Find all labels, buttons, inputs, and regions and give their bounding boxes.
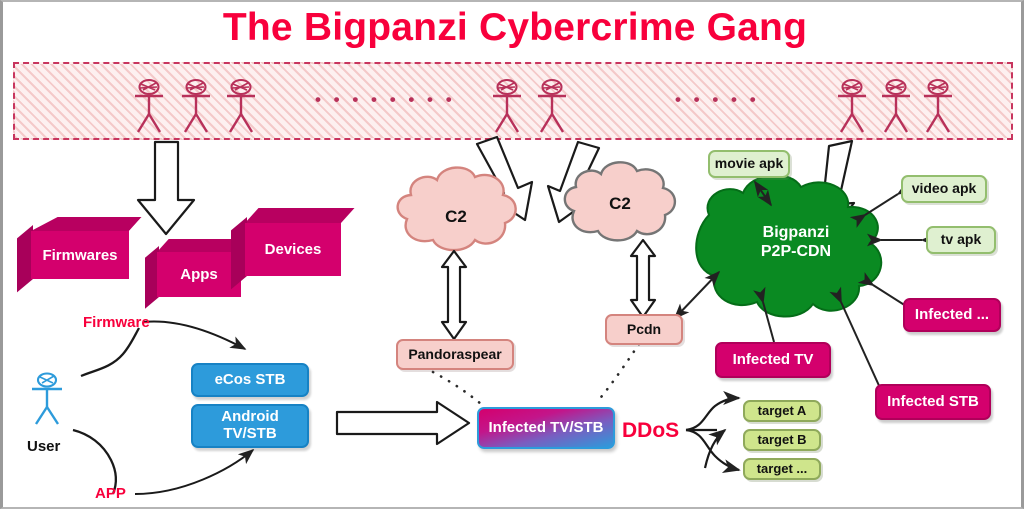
box-front-face: Apps: [157, 252, 241, 297]
ecos-stb-box[interactable]: eCos STB: [191, 363, 309, 397]
ddos-target-a-box[interactable]: target A: [743, 400, 821, 422]
video-apk-label: video apk: [912, 181, 977, 197]
dotted-pandoraspear-to-infected: [433, 372, 481, 404]
gang-actor-figure: [182, 80, 210, 132]
asset-label: Apps: [180, 266, 218, 283]
android-tv-stb-label: Android TV/STB: [221, 409, 279, 443]
pcdn-box[interactable]: Pcdn: [605, 314, 683, 345]
infected-generic-label: Infected ...: [915, 307, 989, 324]
app-label: APP: [95, 485, 126, 502]
ddos-target-label: target B: [757, 433, 806, 448]
curve-user-firmware: [81, 328, 139, 376]
arrow-app-to-android: [135, 450, 253, 494]
gang-actor-figure: [838, 80, 866, 132]
ddos-target-more-box[interactable]: target ...: [743, 458, 821, 480]
pcdn-label: Pcdn: [627, 322, 661, 338]
gang-actor-figure: [882, 80, 910, 132]
tv-apk-label: tv apk: [941, 232, 981, 248]
infected-tv-stb-label: Infected TV/STB: [488, 420, 603, 437]
dotted-pcdn-to-infected: [597, 344, 639, 402]
infected-stb-label: Infected STB: [887, 394, 979, 411]
infected-stb-box[interactable]: Infected STB: [875, 384, 991, 420]
movie-apk-label: movie apk: [715, 156, 783, 172]
ddos-label: DDoS: [622, 419, 679, 443]
box-top-face: [245, 208, 355, 223]
gang-actor-figure: [227, 80, 255, 132]
c2-left-cloud: [398, 168, 516, 251]
arrow-c2-left-pandoraspear: [442, 251, 466, 339]
asset-box-firmwares[interactable]: Firmwares: [17, 217, 129, 279]
infected-tv-label: Infected TV: [733, 352, 814, 369]
asset-box-apps[interactable]: Apps: [145, 239, 241, 297]
box-top-face: [31, 217, 142, 231]
arrow-cdn-pcdn: [675, 272, 719, 318]
firmware-label: Firmware: [83, 314, 150, 331]
user-label: User: [27, 438, 60, 455]
ddos-brace-lower: [686, 430, 739, 470]
bigpanzi-p2p-cdn-cloud: [696, 175, 881, 316]
ddos-brace-upper: [686, 398, 739, 430]
pandoraspear-box[interactable]: Pandoraspear: [396, 339, 514, 370]
gang-actor-figure: [538, 80, 566, 132]
asset-box-devices[interactable]: Devices: [231, 208, 341, 276]
arrow-stb-to-infected: [337, 402, 469, 444]
infected-tv-box[interactable]: Infected TV: [715, 342, 831, 378]
arrow-cdn-infected-stb: [841, 302, 881, 390]
infected-tv-stb-box[interactable]: Infected TV/STB: [477, 407, 615, 449]
ddos-target-label: target A: [758, 404, 807, 419]
asset-label: Devices: [265, 241, 322, 258]
diagram-canvas: The Bigpanzi Cybercrime Gang • • • • • •…: [0, 0, 1024, 509]
gang-actor-figure: [135, 80, 163, 132]
box-front-face: Devices: [245, 223, 341, 276]
movie-apk-box[interactable]: movie apk: [708, 150, 790, 178]
arrow-c2-right-pcdn: [631, 240, 655, 317]
arrow-firmware-to-ecos: [143, 321, 245, 349]
android-tv-stb-box[interactable]: Android TV/STB: [191, 404, 309, 448]
gang-actor-figure: [493, 80, 521, 132]
arrow-cdn-infected-generic: [873, 285, 906, 306]
pandoraspear-label: Pandoraspear: [408, 347, 501, 363]
asset-label: Firmwares: [42, 247, 117, 264]
ddos-target-label: target ...: [757, 462, 808, 477]
infected-generic-box[interactable]: Infected ...: [903, 298, 1001, 332]
ecos-stb-label: eCos STB: [215, 372, 286, 389]
arrow-cdn-video-apk: [865, 194, 898, 215]
gang-actor-figure: [924, 80, 952, 132]
c2-right-cloud: [565, 162, 675, 240]
tv-apk-box[interactable]: tv apk: [926, 226, 996, 254]
arrow-gang-to-assets: [138, 142, 194, 234]
user-figure: [32, 374, 62, 425]
box-front-face: Firmwares: [31, 231, 129, 279]
ddos-target-b-box[interactable]: target B: [743, 429, 821, 451]
video-apk-box[interactable]: video apk: [901, 175, 987, 203]
